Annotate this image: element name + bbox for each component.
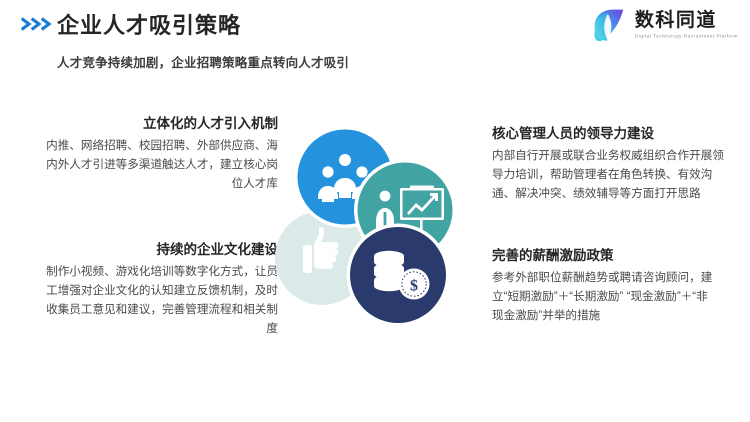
block-title-leadership: 核心管理人员的领导力建设: [492, 124, 728, 144]
circle-money: $: [347, 224, 450, 327]
text-block-salary: 完善的薪酬激励政策 参考外部职位薪酬趋势或聘请咨询顾问，建立“短期激励”＋“长期…: [492, 246, 714, 325]
slide-header: 企业人才吸引策略 人才竞争持续加剧，企业招聘策略重点转向人才吸引 数科同道 Di…: [0, 0, 750, 86]
block-body-salary: 参考外部职位薪酬趋势或聘请咨询顾问，建立“短期激励”＋“长期激励” “现金激励”…: [492, 268, 714, 325]
brand-text: 数科同道 Digital Technology Recruitment Plat…: [635, 10, 738, 40]
brand-tagline: Digital Technology Recruitment Platform: [635, 32, 738, 40]
page-title: 企业人才吸引策略: [57, 12, 241, 40]
page-subtitle: 人才竞争持续加剧，企业招聘策略重点转向人才吸引: [57, 54, 349, 72]
block-body-culture: 制作小视频、游戏化培训等数字化方式，让员工增强对企业文化的认知建立反馈机制，及时…: [38, 262, 278, 338]
block-body-leadership: 内部自行开展或联合业务权威组织合作开展领导力培训，帮助管理者在角色转换、有效沟通…: [492, 146, 728, 203]
text-block-leadership: 核心管理人员的领导力建设 内部自行开展或联合业务权威组织合作开展领导力培训，帮助…: [492, 124, 728, 203]
brand-logo-icon: [590, 6, 628, 44]
block-body-intro: 内推、网络招聘、校园招聘、外部供应商、海内外人才引进等多渠道触达人才，建立核心岗…: [38, 136, 278, 193]
brand-logo: 数科同道 Digital Technology Recruitment Plat…: [590, 6, 738, 44]
triple-chevron-right-icon: [21, 17, 55, 31]
block-title-intro: 立体化的人才引入机制: [38, 114, 278, 134]
brand-name: 数科同道: [635, 10, 717, 32]
block-title-salary: 完善的薪酬激励政策: [492, 246, 714, 266]
text-block-culture: 持续的企业文化建设 制作小视频、游戏化培训等数字化方式，让员工增强对企业文化的认…: [38, 240, 278, 338]
svg-text:$: $: [410, 278, 418, 295]
block-title-culture: 持续的企业文化建设: [38, 240, 278, 260]
four-circle-venn-diagram: $: [262, 112, 488, 340]
text-block-intro: 立体化的人才引入机制 内推、网络招聘、校园招聘、外部供应商、海内外人才引进等多渠…: [38, 114, 278, 193]
